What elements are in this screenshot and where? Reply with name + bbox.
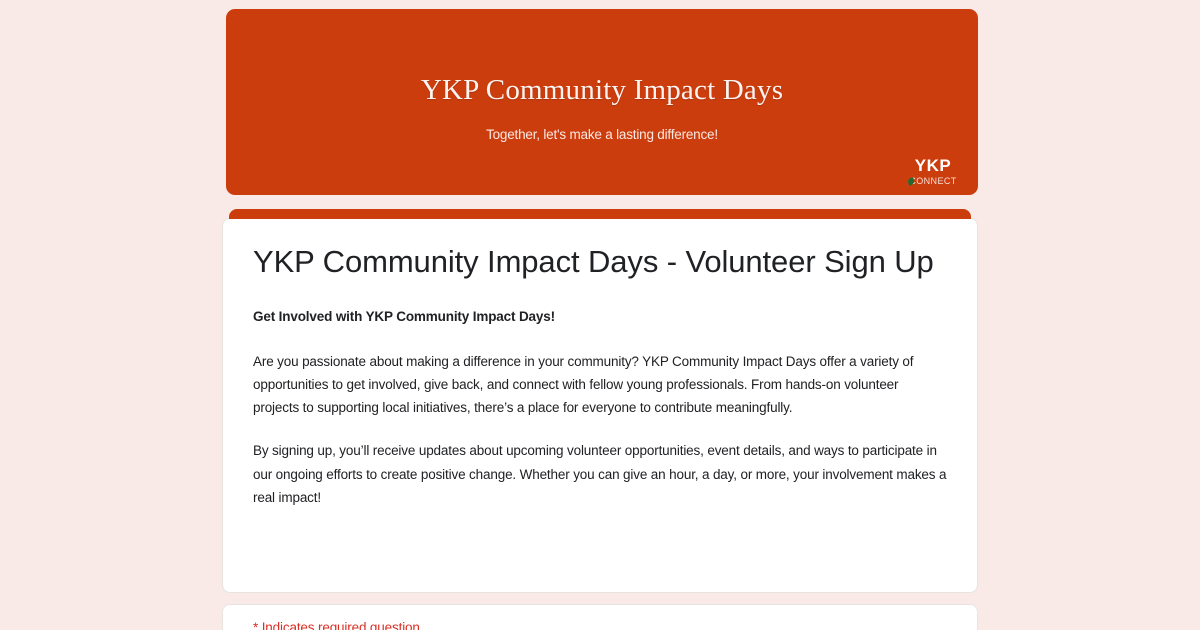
logo-mark-text: YKP xyxy=(902,157,964,174)
banner-title: YKP Community Impact Days xyxy=(226,74,978,107)
form-banner-image: YKP Community Impact Days Together, let'… xyxy=(226,9,978,195)
card-accent-bar xyxy=(229,209,971,219)
required-question-note: * Indicates required question xyxy=(253,619,947,630)
ykp-connect-logo: YKP CONNECT xyxy=(902,157,964,186)
banner-subtitle: Together, let's make a lasting differenc… xyxy=(226,127,978,142)
form-page: YKP Community Impact Days Together, let'… xyxy=(0,0,1200,630)
page-title: YKP Community Impact Days - Volunteer Si… xyxy=(253,243,947,281)
logo-wordmark-text: CONNECT xyxy=(902,177,964,186)
form-header-card: YKP Community Impact Days - Volunteer Si… xyxy=(222,218,978,593)
form-description-paragraph-2: By signing up, you’ll receive updates ab… xyxy=(253,439,947,509)
required-question-card: * Indicates required question xyxy=(222,604,978,630)
form-description-lead: Get Involved with YKP Community Impact D… xyxy=(253,307,947,327)
form-description-paragraph-1: Are you passionate about making a differ… xyxy=(253,350,947,420)
leaf-icon xyxy=(907,177,915,186)
